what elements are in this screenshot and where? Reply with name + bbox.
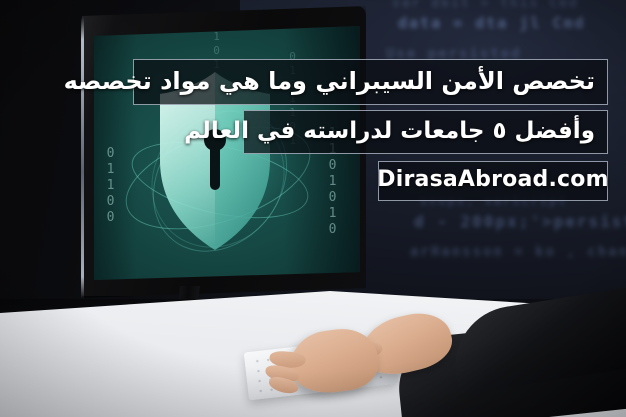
headline-line-2-text: وأفضل ٥ جامعات لدراسته في العالم [184, 118, 595, 144]
headline-line-1-box: تخصص الأمن السيبراني وما هي مواد تخصصه [133, 59, 608, 105]
screenshot-canvas: var dbit = this Cmd data = dta jl Cmd Us… [0, 0, 626, 417]
website-url-text: DirasaAbroad.com [377, 167, 608, 192]
headline-line-2-box: وأفضل ٥ جامعات لدراسته في العالم [243, 110, 608, 154]
headline-line-1-text: تخصص الأمن السيبراني وما هي مواد تخصصه [64, 67, 595, 95]
website-badge[interactable]: DirasaAbroad.com [378, 161, 608, 201]
